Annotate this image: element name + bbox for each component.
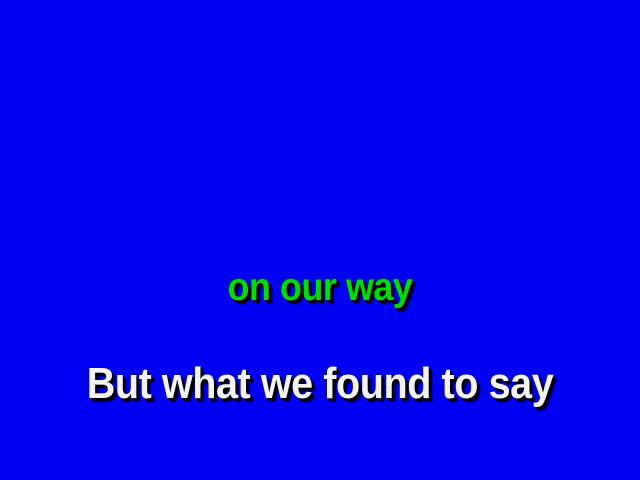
lyric-line-next: But what we found to say (32, 362, 608, 406)
karaoke-video-screen: on our way But what we found to say (0, 0, 640, 480)
lyric-line-active: on our way (26, 268, 615, 307)
